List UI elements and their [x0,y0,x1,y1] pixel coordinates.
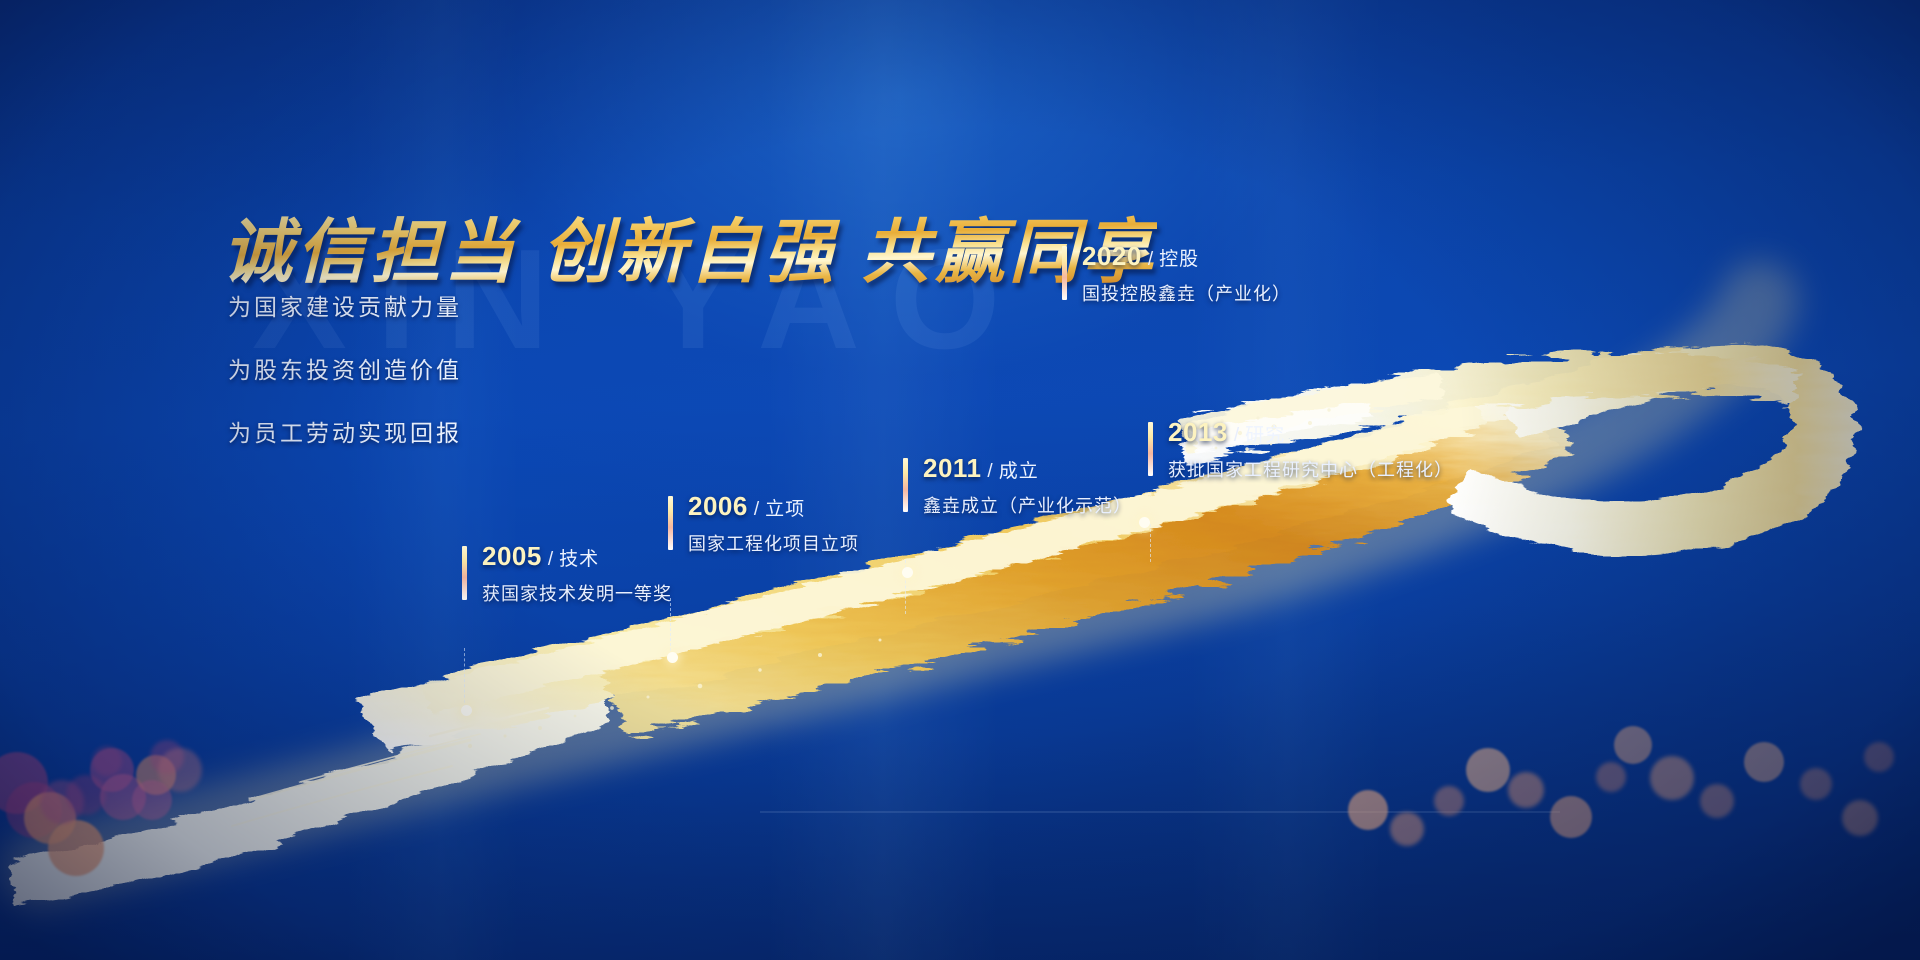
bokeh-dot [1466,748,1510,792]
bokeh-dot [6,782,62,838]
milestone-tag: 立项 [765,499,805,520]
bokeh-dot [24,792,76,844]
bokeh-dot [92,746,122,776]
bokeh-dot [1550,796,1592,838]
timeline-milestone-2013: 2013/研究 获批国家工程研究中心（工程化） [1148,419,1453,482]
milestone-heading: 2005/技术 [482,543,672,569]
bokeh-dot [158,748,202,792]
milestone-heading: 2020/控股 [1082,243,1291,269]
slogan-list: 为国家建设贡献力量 为股东投资创造价值 为员工劳动实现回报 [228,288,462,477]
milestone-separator: / [1228,425,1245,446]
bokeh-dot [1434,786,1464,816]
slogan-item: 为股东投资创造价值 [228,351,462,385]
timeline-milestone-2006: 2006/立项 国家工程化项目立项 [668,493,859,556]
milestone-year: 2013 [1168,417,1228,447]
bokeh-dot [1614,726,1652,764]
milestone-year: 2005 [482,541,542,571]
milestone-node-2006 [667,652,678,663]
bokeh-dot [48,820,104,876]
milestone-accent-bar [668,496,673,550]
bokeh-dot [1596,762,1626,792]
bokeh-dot [40,780,84,824]
milestone-tag: 成立 [999,461,1039,482]
milestone-separator: / [748,499,765,520]
bokeh-dot [90,748,134,792]
milestone-description: 国投控股鑫垚（产业化） [1082,280,1291,306]
bokeh-dot [1744,742,1784,782]
bokeh-dot [66,775,106,815]
milestone-description: 获批国家工程研究中心（工程化） [1168,456,1453,482]
page-title: 诚信担当 创新自强 共赢同享 [222,196,1157,297]
timeline-milestone-2020: 2020/控股 国投控股鑫垚（产业化） [1062,243,1291,306]
milestone-text: 2006/立项 国家工程化项目立项 [668,493,859,556]
timeline-milestone-2005: 2005/技术 获国家技术发明一等奖 [462,543,672,606]
milestone-heading: 2006/立项 [688,493,859,519]
bokeh-dot [1390,812,1424,846]
milestone-accent-bar [903,458,908,512]
milestone-accent-bar [1062,246,1067,300]
milestone-leader-line-2006 [670,598,671,656]
milestone-leader-line-2013 [1150,524,1151,562]
bokeh-dot [1348,790,1388,830]
bokeh-dot [100,774,146,820]
milestone-year: 2020 [1082,241,1142,271]
milestone-description: 鑫垚成立（产业化示范） [923,492,1132,518]
bokeh-dot [136,755,176,795]
milestone-node-2011 [902,567,913,578]
milestone-description: 获国家技术发明一等奖 [482,580,672,606]
milestone-separator: / [1142,249,1159,270]
timeline-milestone-2011: 2011/成立 鑫垚成立（产业化示范） [903,455,1132,518]
milestone-year: 2006 [688,491,748,521]
milestone-accent-bar [1148,422,1153,476]
milestone-heading: 2013/研究 [1168,419,1453,445]
milestone-node-2013 [1139,517,1150,528]
milestone-node-2005 [461,705,472,716]
milestone-separator: / [542,549,559,570]
slogan-item: 为国家建设贡献力量 [228,288,462,322]
milestone-text: 2005/技术 获国家技术发明一等奖 [462,543,672,606]
milestone-description: 国家工程化项目立项 [688,530,859,556]
milestone-text: 2020/控股 国投控股鑫垚（产业化） [1062,243,1291,306]
bokeh-dot [1508,772,1544,808]
bokeh-dot [150,740,184,774]
milestone-year: 2011 [923,453,981,483]
bokeh-dot [132,780,172,820]
milestone-accent-bar [462,546,467,600]
poster-canvas: XIN YAO 诚信担当 创新自强 共赢同享 为国家建设贡献力量 为股东投资创造… [0,0,1920,960]
milestone-tag: 控股 [1159,249,1199,270]
milestone-text: 2011/成立 鑫垚成立（产业化示范） [903,455,1132,518]
bokeh-dot [1800,768,1832,800]
slogan-item: 为员工劳动实现回报 [228,414,462,448]
milestone-separator: / [981,461,998,482]
bokeh-dot [1864,742,1894,772]
bokeh-dot [0,752,48,814]
milestone-tag: 技术 [559,549,599,570]
bokeh-dot [1700,784,1734,818]
bokeh-dot [1842,800,1878,836]
milestone-tag: 研究 [1245,425,1285,446]
milestone-heading: 2011/成立 [923,455,1132,481]
milestone-text: 2013/研究 获批国家工程研究中心（工程化） [1148,419,1453,482]
milestone-leader-line-2005 [464,648,465,708]
bokeh-dot [1650,756,1694,800]
